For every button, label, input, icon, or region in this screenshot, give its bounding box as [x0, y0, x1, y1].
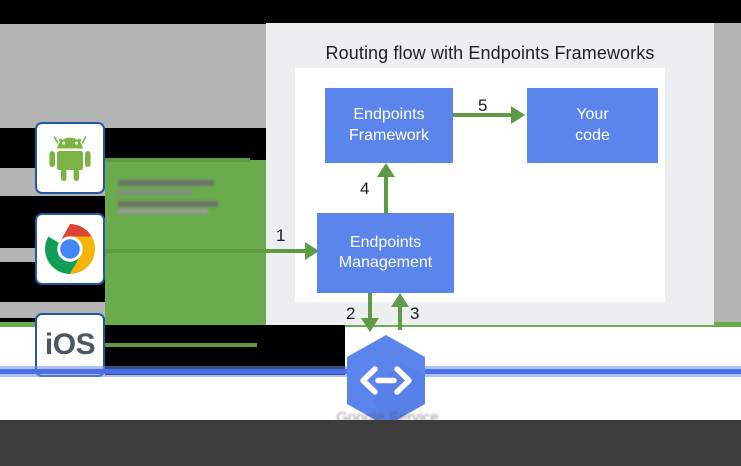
chrome-connector-line	[105, 249, 257, 253]
node-endpoints-management-line1: Endpoints	[339, 233, 432, 253]
arrow-1-label: 1	[276, 226, 285, 246]
arrow-4-label: 4	[360, 179, 369, 199]
arrow-5-label: 5	[478, 96, 487, 116]
screenshot-stage: Routing flow with Endpoints Frameworks 1…	[0, 0, 741, 466]
node-your-code-line2: code	[575, 126, 610, 146]
arrow-2-label: 2	[346, 304, 355, 324]
node-your-code-line1: Your	[575, 105, 610, 125]
arrow-4-line	[384, 176, 388, 214]
ios-wordmark: iOS	[45, 328, 95, 362]
content-block	[0, 23, 266, 24]
footer-overlay-bar	[0, 420, 741, 466]
android-icon	[48, 134, 92, 182]
arrow-2-line	[368, 293, 372, 321]
node-endpoints-framework[interactable]: Endpoints Framework	[325, 88, 453, 163]
figure-title: Routing flow with Endpoints Frameworks	[266, 43, 714, 64]
redacted-text-line	[118, 180, 214, 186]
arrow-3-head-icon	[391, 293, 409, 307]
arrow-5-head-icon	[511, 106, 525, 124]
node-endpoints-management-line2: Management	[339, 253, 432, 273]
chrome-icon	[45, 224, 95, 274]
node-endpoints-framework-line2: Framework	[349, 126, 429, 146]
arrow-2-head-icon	[361, 318, 379, 332]
top-overlay-bar	[0, 0, 741, 23]
node-endpoints-management[interactable]: Endpoints Management	[317, 213, 454, 293]
redacted-text-line	[118, 209, 208, 214]
node-your-code[interactable]: Your code	[527, 88, 658, 163]
redacted-text-line	[118, 201, 218, 207]
arrow-3-label: 3	[410, 304, 419, 324]
client-tile-android[interactable]	[35, 122, 105, 194]
ios-connector-line	[105, 343, 257, 347]
arrow-4-head-icon	[377, 163, 395, 177]
client-tile-chrome[interactable]	[35, 213, 105, 285]
redacted-text-line	[118, 190, 192, 195]
node-endpoints-framework-line1: Endpoints	[349, 105, 429, 125]
android-connector-line	[105, 158, 250, 162]
